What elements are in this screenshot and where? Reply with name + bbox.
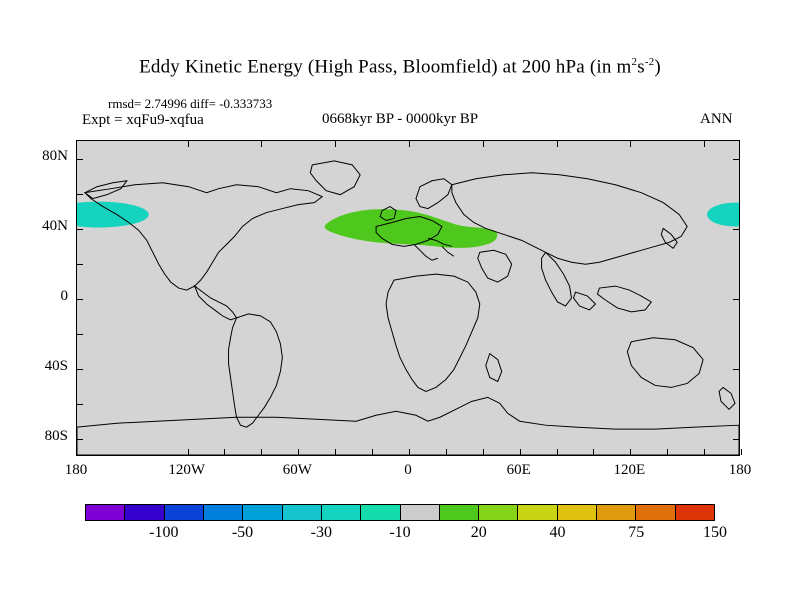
x-axis-label-0: 180 bbox=[36, 462, 116, 479]
x-minor-tick bbox=[261, 449, 262, 455]
colorbar-segment-2 bbox=[165, 505, 204, 520]
coastlines bbox=[77, 161, 739, 455]
x-minor-tick bbox=[741, 449, 742, 455]
x-minor-tick-top bbox=[630, 141, 631, 147]
colorbar bbox=[85, 504, 715, 521]
figure-canvas: Eddy Kinetic Energy (High Pass, Bloomfie… bbox=[0, 0, 800, 600]
y-axis-label-1: 40N bbox=[16, 218, 68, 235]
y-minor-tick-right bbox=[733, 369, 739, 370]
y-axis-label-3: 40S bbox=[16, 358, 68, 375]
x-minor-tick bbox=[298, 449, 299, 455]
coastline-map bbox=[77, 141, 739, 455]
colorbar-segment-5 bbox=[283, 505, 322, 520]
y-axis-label-4: 80S bbox=[16, 428, 68, 445]
y-axis-label-2: 0 bbox=[16, 288, 68, 305]
experiment-annotation: Expt = xqFu9-xqfua bbox=[82, 112, 204, 129]
statistics-annotation: rmsd= 2.74996 diff= -0.333733 bbox=[108, 96, 272, 112]
x-minor-tick bbox=[667, 449, 668, 455]
y-minor-tick bbox=[77, 159, 83, 160]
title-prefix: Eddy Kinetic Energy (High Pass, Bloomfie… bbox=[139, 56, 631, 77]
x-axis-label-5: 120E bbox=[589, 462, 669, 479]
x-minor-tick-top bbox=[261, 141, 262, 147]
y-minor-tick bbox=[77, 194, 83, 195]
x-minor-tick bbox=[557, 449, 558, 455]
colorbar-segment-4 bbox=[243, 505, 282, 520]
period-annotation: 0668kyr BP - 0000kyr BP bbox=[322, 111, 478, 128]
anomaly-north-atlantic-mediterranean bbox=[325, 209, 497, 248]
x-axis-label-3: 0 bbox=[368, 462, 448, 479]
x-minor-tick bbox=[372, 449, 373, 455]
colorbar-segment-0 bbox=[86, 505, 125, 520]
colorbar-segment-9 bbox=[440, 505, 479, 520]
x-minor-tick-top bbox=[483, 141, 484, 147]
y-minor-tick-right bbox=[733, 299, 739, 300]
x-axis-label-6: 180 bbox=[700, 462, 780, 479]
y-minor-tick bbox=[77, 439, 83, 440]
x-minor-tick bbox=[409, 449, 410, 455]
colorbar-label-0: -100 bbox=[129, 524, 199, 542]
y-axis-label-0: 80N bbox=[16, 148, 68, 165]
colorbar-label-1: -50 bbox=[208, 524, 278, 542]
x-minor-tick-top bbox=[557, 141, 558, 147]
x-minor-tick-top bbox=[335, 141, 336, 147]
colorbar-label-6: 75 bbox=[601, 524, 671, 542]
colorbar-segment-1 bbox=[125, 505, 164, 520]
colorbar-label-3: -10 bbox=[365, 524, 435, 542]
map-plot-area bbox=[76, 140, 740, 456]
y-minor-tick-right bbox=[733, 229, 739, 230]
y-minor-tick bbox=[77, 369, 83, 370]
y-minor-tick-right bbox=[733, 159, 739, 160]
title-suffix: ) bbox=[654, 56, 661, 77]
x-minor-tick bbox=[483, 449, 484, 455]
colorbar-segment-11 bbox=[518, 505, 557, 520]
colorbar-label-5: 40 bbox=[523, 524, 593, 542]
colorbar-label-2: -30 bbox=[286, 524, 356, 542]
colorbar-label-4: 20 bbox=[444, 524, 514, 542]
y-minor-tick bbox=[77, 404, 83, 405]
x-axis-label-1: 120W bbox=[147, 462, 227, 479]
x-minor-tick bbox=[335, 449, 336, 455]
y-minor-tick bbox=[77, 229, 83, 230]
colorbar-segment-13 bbox=[597, 505, 636, 520]
y-minor-tick bbox=[77, 334, 83, 335]
x-minor-tick bbox=[188, 449, 189, 455]
y-minor-tick-right bbox=[733, 439, 739, 440]
x-minor-tick bbox=[630, 449, 631, 455]
title-middle: s bbox=[637, 56, 645, 77]
anomaly-fills bbox=[77, 202, 739, 248]
title-exponent-2: -2 bbox=[645, 56, 655, 68]
anomaly-north-pacific-west bbox=[77, 202, 149, 228]
x-minor-tick bbox=[593, 449, 594, 455]
x-axis-label-4: 60E bbox=[479, 462, 559, 479]
x-axis-label-2: 60W bbox=[257, 462, 337, 479]
colorbar-segment-12 bbox=[558, 505, 597, 520]
colorbar-segment-14 bbox=[636, 505, 675, 520]
x-minor-tick-top bbox=[704, 141, 705, 147]
figure-title: Eddy Kinetic Energy (High Pass, Bloomfie… bbox=[0, 56, 800, 78]
colorbar-segment-10 bbox=[479, 505, 518, 520]
colorbar-segment-8 bbox=[401, 505, 440, 520]
colorbar-segment-3 bbox=[204, 505, 243, 520]
x-minor-tick-top bbox=[409, 141, 410, 147]
y-minor-tick bbox=[77, 299, 83, 300]
colorbar-segment-6 bbox=[322, 505, 361, 520]
colorbar-segment-7 bbox=[361, 505, 400, 520]
x-minor-tick bbox=[704, 449, 705, 455]
x-minor-tick bbox=[520, 449, 521, 455]
x-minor-tick bbox=[446, 449, 447, 455]
y-minor-tick bbox=[77, 264, 83, 265]
colorbar-label-7: 150 bbox=[680, 524, 750, 542]
x-minor-tick bbox=[224, 449, 225, 455]
x-minor-tick-top bbox=[188, 141, 189, 147]
anomaly-north-pacific-east bbox=[707, 203, 739, 227]
colorbar-segment-15 bbox=[676, 505, 714, 520]
season-annotation: ANN bbox=[700, 111, 733, 128]
